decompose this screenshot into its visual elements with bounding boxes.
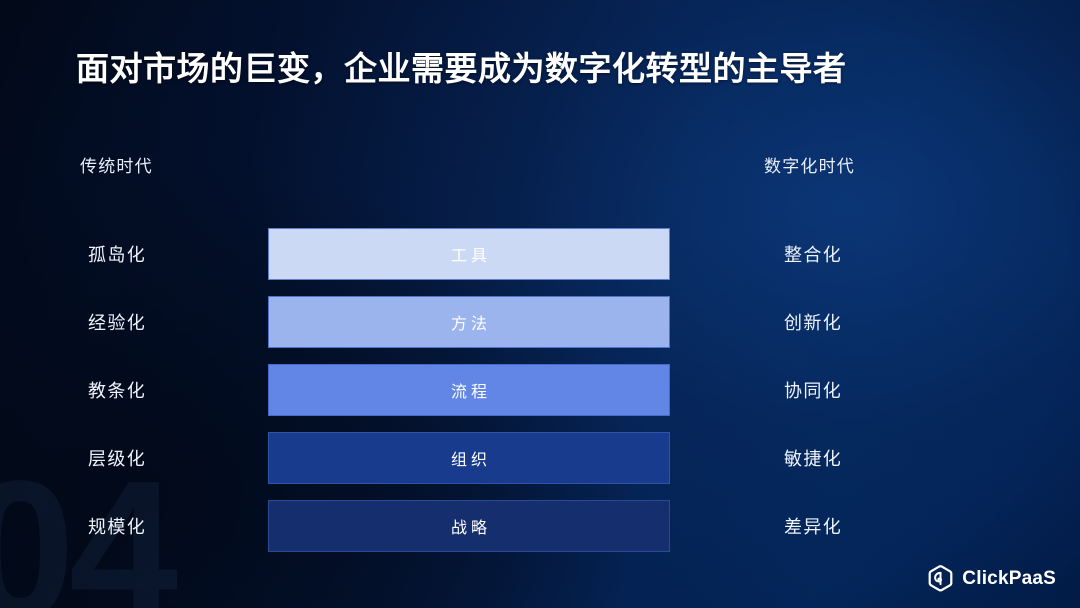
column-header-digital: 数字化时代 [764,152,855,177]
column-header-traditional: 传统时代 [80,152,153,177]
center-bar-strategy[interactable]: 战略 [268,500,670,552]
row-label-right: 整合化 [784,228,842,280]
center-bar-process[interactable]: 流程 [268,364,670,416]
row-label-right: 创新化 [784,296,842,348]
clickpaas-logo: ClickPaaS [927,565,1056,592]
row-label-left: 教条化 [88,364,146,416]
slide-canvas: 04 面对市场的巨变，企业需要成为数字化转型的主导者 传统时代 数字化时代 孤岛… [0,0,1080,608]
slide-title: 面对市场的巨变，企业需要成为数字化转型的主导者 [76,42,847,90]
row-label-left: 孤岛化 [88,228,146,280]
comparison-row: 规模化 战略 差异化 [0,500,1080,552]
center-bar-organization[interactable]: 组织 [268,432,670,484]
center-bar-tool[interactable]: 工具 [268,228,670,280]
comparison-row: 孤岛化 工具 整合化 [0,228,1080,280]
row-label-left: 层级化 [88,432,146,484]
comparison-row: 教条化 流程 协同化 [0,364,1080,416]
row-label-right: 敏捷化 [784,432,842,484]
row-label-right: 协同化 [784,364,842,416]
clickpaas-hexagon-icon [927,565,954,592]
clickpaas-wordmark: ClickPaaS [962,568,1056,590]
row-label-left: 经验化 [88,296,146,348]
comparison-rows: 孤岛化 工具 整合化 经验化 方法 创新化 教条化 流程 协同化 层级化 组织 … [0,228,1080,552]
comparison-row: 经验化 方法 创新化 [0,296,1080,348]
comparison-row: 层级化 组织 敏捷化 [0,432,1080,484]
center-bar-method[interactable]: 方法 [268,296,670,348]
row-label-left: 规模化 [88,500,146,552]
row-label-right: 差异化 [784,500,842,552]
